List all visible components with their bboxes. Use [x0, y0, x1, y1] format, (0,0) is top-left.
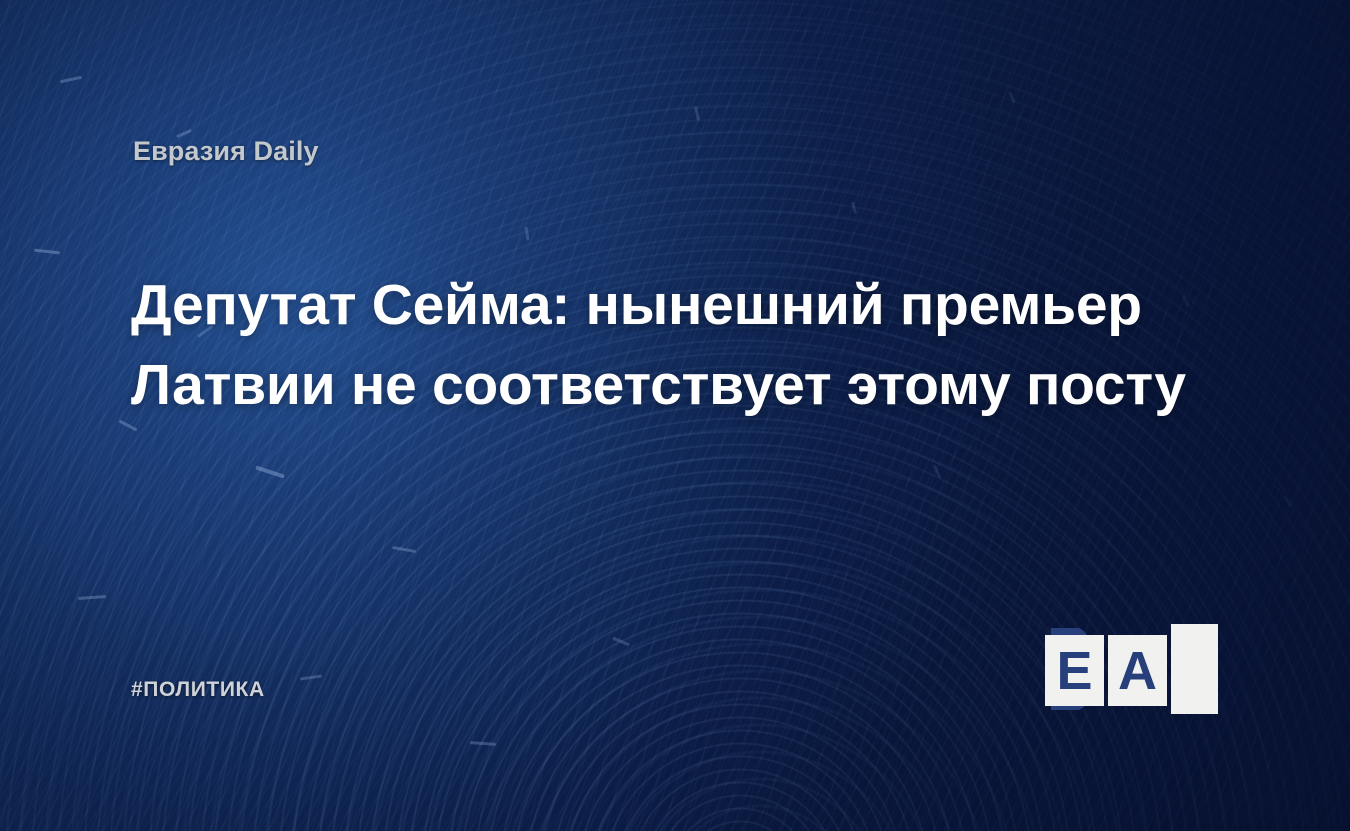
logo-tile-d-bottom — [1171, 669, 1218, 714]
ead-logo: E A — [1045, 624, 1221, 710]
headline-line-2: Латвии не соответствует этому посту — [131, 345, 1191, 425]
headline: Депутат Сейма: нынешний премьер Латвии н… — [131, 265, 1191, 425]
logo-letter-e: E — [1045, 635, 1104, 706]
headline-line-1: Депутат Сейма: нынешний премьер — [131, 265, 1191, 345]
card-content: Евразия Daily Депутат Сейма: нынешний пр… — [0, 0, 1350, 831]
logo-letter-a: A — [1108, 635, 1167, 706]
site-name: Евразия Daily — [133, 136, 319, 167]
social-share-card: Евразия Daily Депутат Сейма: нынешний пр… — [0, 0, 1350, 831]
logo-tile-d-top — [1171, 624, 1218, 669]
category-tag: #ПОЛИТИКА — [131, 678, 265, 702]
